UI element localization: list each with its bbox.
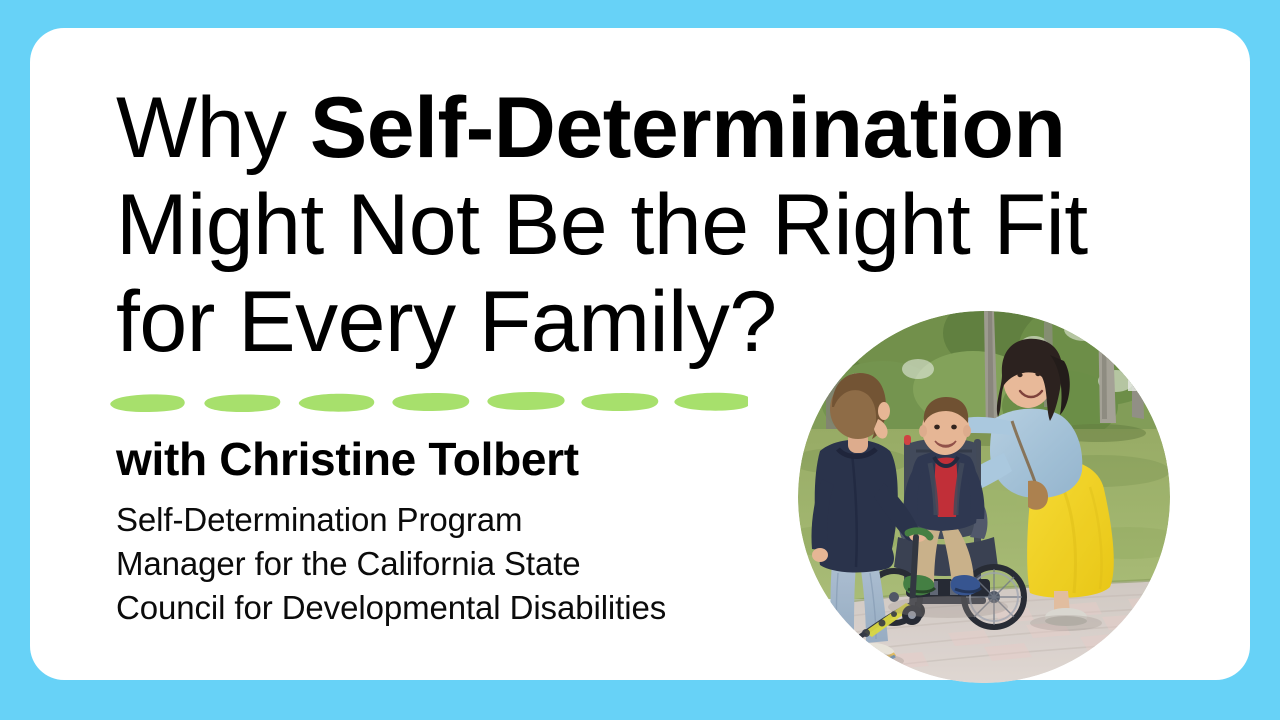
speaker-role: Self-Determination Program Manager for t… [116, 498, 816, 630]
speaker-role-line-3: Council for Developmental Disabilities [116, 586, 816, 630]
title-line-1: Why Self-Determination [116, 80, 1216, 177]
title-line-2: Might Not Be the Right Fit [116, 177, 1216, 274]
title-line-1-bold: Self-Determination [310, 80, 1066, 176]
speaker-role-line-1: Self-Determination Program [116, 498, 816, 542]
speaker-photo [798, 311, 1170, 683]
title-line-1-plain: Why [116, 80, 310, 176]
slide-card: Why Self-Determination Might Not Be the … [30, 28, 1250, 680]
speaker-role-line-2: Manager for the California State [116, 542, 816, 586]
speaker-name: with Christine Tolbert [116, 432, 579, 486]
green-dash-divider [108, 386, 748, 422]
